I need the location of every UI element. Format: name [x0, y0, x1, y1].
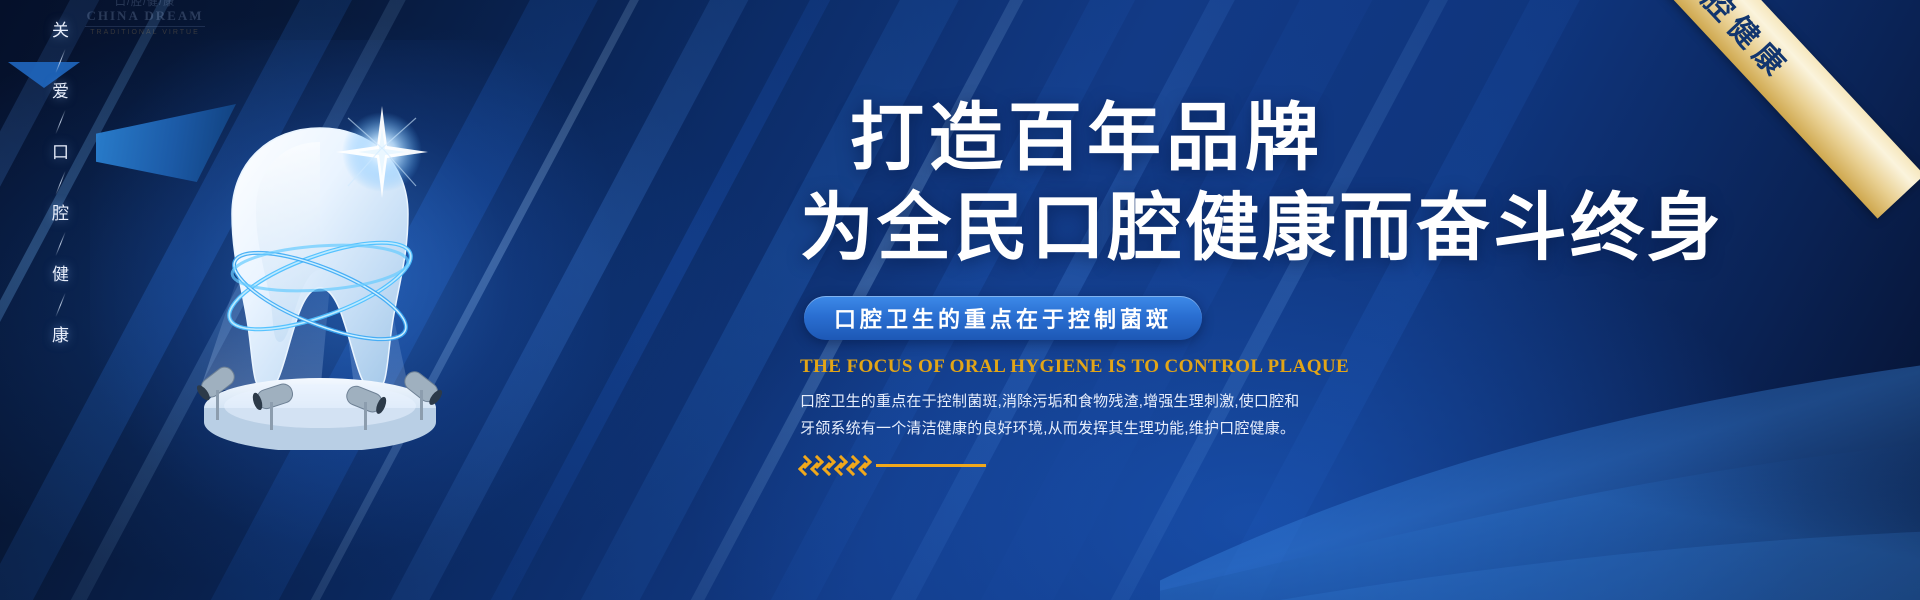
- pedestal: [204, 378, 436, 450]
- star-sparkle-icon: [336, 106, 428, 198]
- tooth-illustration: [120, 90, 520, 450]
- slash-separator-icon: [55, 110, 66, 134]
- chevron-right-icon: [836, 456, 847, 474]
- slash-separator-icon: [55, 293, 66, 317]
- vertical-char: 口: [52, 144, 69, 161]
- headline-line-1: 打造百年品牌: [850, 96, 1600, 180]
- vertical-char: 腔: [52, 205, 69, 222]
- subtitle-badge-label: 口腔卫生的重点在于控制菌斑: [834, 302, 1172, 334]
- chevron-right-icon: [824, 456, 835, 474]
- content-block: 打造百年品牌 为全民口腔健康而奋斗终身 口腔卫生的重点在于控制菌斑 THE FO…: [800, 96, 1600, 474]
- subtitle-badge[interactable]: 口腔卫生的重点在于控制菌斑: [804, 296, 1202, 340]
- headline-line-2: 为全民口腔健康而奋斗终身: [800, 186, 1600, 270]
- vertical-char: 康: [52, 327, 69, 344]
- chevron-right-icon: [848, 456, 859, 474]
- vertical-char: 爱: [52, 83, 69, 100]
- description-paragraph: 口腔卫生的重点在于控制菌斑,消除污垢和食物残渣,增强生理刺激,使口腔和牙颌系统有…: [800, 388, 1300, 442]
- gold-rule: [876, 464, 986, 467]
- promo-banner: 口/腔/健/康 CHINA DREAM TRADITIONAL VIRTUE 关…: [0, 0, 1920, 600]
- slash-separator-icon: [55, 49, 66, 73]
- vertical-caption: 关 爱 口 腔 健 康: [52, 22, 69, 344]
- chevron-right-icon: [800, 456, 811, 474]
- english-tagline: THE FOCUS OF ORAL HYGIENE IS TO CONTROL …: [800, 356, 1600, 378]
- vertical-char: 健: [52, 266, 69, 283]
- vertical-char: 关: [52, 22, 69, 39]
- chevron-decor-row: [800, 456, 1600, 474]
- chevron-right-icon: [860, 456, 871, 474]
- slash-separator-icon: [55, 232, 66, 256]
- slash-separator-icon: [55, 171, 66, 195]
- triangle-decor-icon: [8, 62, 80, 88]
- chevron-right-icon: [812, 456, 823, 474]
